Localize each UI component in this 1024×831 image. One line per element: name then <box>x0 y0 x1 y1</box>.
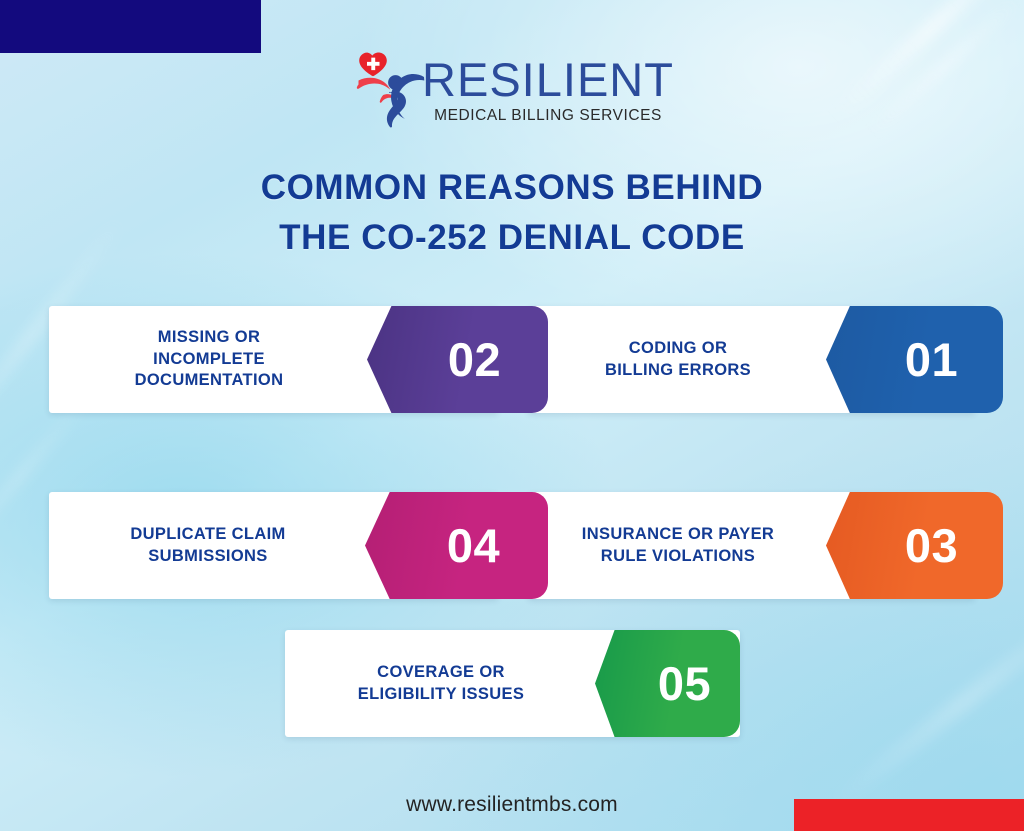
reason-card-04-number: 04 <box>413 522 500 569</box>
reason-card-02[interactable]: MISSING OR INCOMPLETE DOCUMENTATION 02 <box>49 306 498 413</box>
reason-card-03-chevron: 03 <box>826 492 1003 599</box>
reason-card-01-number: 01 <box>871 336 958 383</box>
reason-card-01-label: CODING OR BILLING ERRORS <box>528 306 828 413</box>
brand-logo: RESILIENT MEDICAL BILLING SERVICES <box>0 44 1024 130</box>
reason-label-line: SUBMISSIONS <box>130 546 285 568</box>
reason-label-line: ELIGIBILITY ISSUES <box>358 684 524 706</box>
reason-label-line: INCOMPLETE <box>135 349 284 371</box>
reason-card-05[interactable]: COVERAGE OR ELIGIBILITY ISSUES 05 <box>285 630 740 737</box>
reason-card-02-number: 02 <box>414 336 501 383</box>
reason-card-02-label: MISSING OR INCOMPLETE DOCUMENTATION <box>49 306 369 413</box>
reason-card-03-label: INSURANCE OR PAYER RULE VIOLATIONS <box>528 492 828 599</box>
page-title-line-2: THE CO-252 DENIAL CODE <box>0 213 1024 263</box>
reason-card-01[interactable]: CODING OR BILLING ERRORS 01 <box>528 306 975 413</box>
reason-card-01-chevron: 01 <box>826 306 1003 413</box>
reason-label-line: CODING OR <box>605 338 751 360</box>
page-title: COMMON REASONS BEHIND THE CO-252 DENIAL … <box>0 163 1024 262</box>
reason-label-line: DUPLICATE CLAIM <box>130 524 285 546</box>
reason-label-line: COVERAGE OR <box>358 662 524 684</box>
reason-card-04-label: DUPLICATE CLAIM SUBMISSIONS <box>49 492 367 599</box>
reason-card-05-chevron: 05 <box>595 630 740 737</box>
brand-tagline: MEDICAL BILLING SERVICES <box>422 107 674 125</box>
heart-plus-runner-logo-icon <box>350 46 426 130</box>
footer-website-url[interactable]: www.resilientmbs.com <box>0 793 1024 817</box>
brand-name: RESILIENT <box>422 58 674 102</box>
reason-card-03[interactable]: INSURANCE OR PAYER RULE VIOLATIONS 03 <box>528 492 975 599</box>
reason-card-04-chevron: 04 <box>365 492 548 599</box>
reason-card-05-label: COVERAGE OR ELIGIBILITY ISSUES <box>285 630 597 737</box>
infographic-canvas: RESILIENT MEDICAL BILLING SERVICES COMMO… <box>0 0 1024 831</box>
reason-label-line: INSURANCE OR PAYER <box>582 524 774 546</box>
reason-label-line: MISSING OR <box>135 327 284 349</box>
reason-label-line: BILLING ERRORS <box>605 360 751 382</box>
reason-label-line: DOCUMENTATION <box>135 370 284 392</box>
reason-card-05-number: 05 <box>624 660 711 707</box>
reason-card-03-number: 03 <box>871 522 958 569</box>
reason-label-line: RULE VIOLATIONS <box>582 546 774 568</box>
reason-card-04[interactable]: DUPLICATE CLAIM SUBMISSIONS 04 <box>49 492 498 599</box>
page-title-line-1: COMMON REASONS BEHIND <box>0 163 1024 213</box>
reason-card-02-chevron: 02 <box>367 306 548 413</box>
background-streak <box>824 590 1024 814</box>
